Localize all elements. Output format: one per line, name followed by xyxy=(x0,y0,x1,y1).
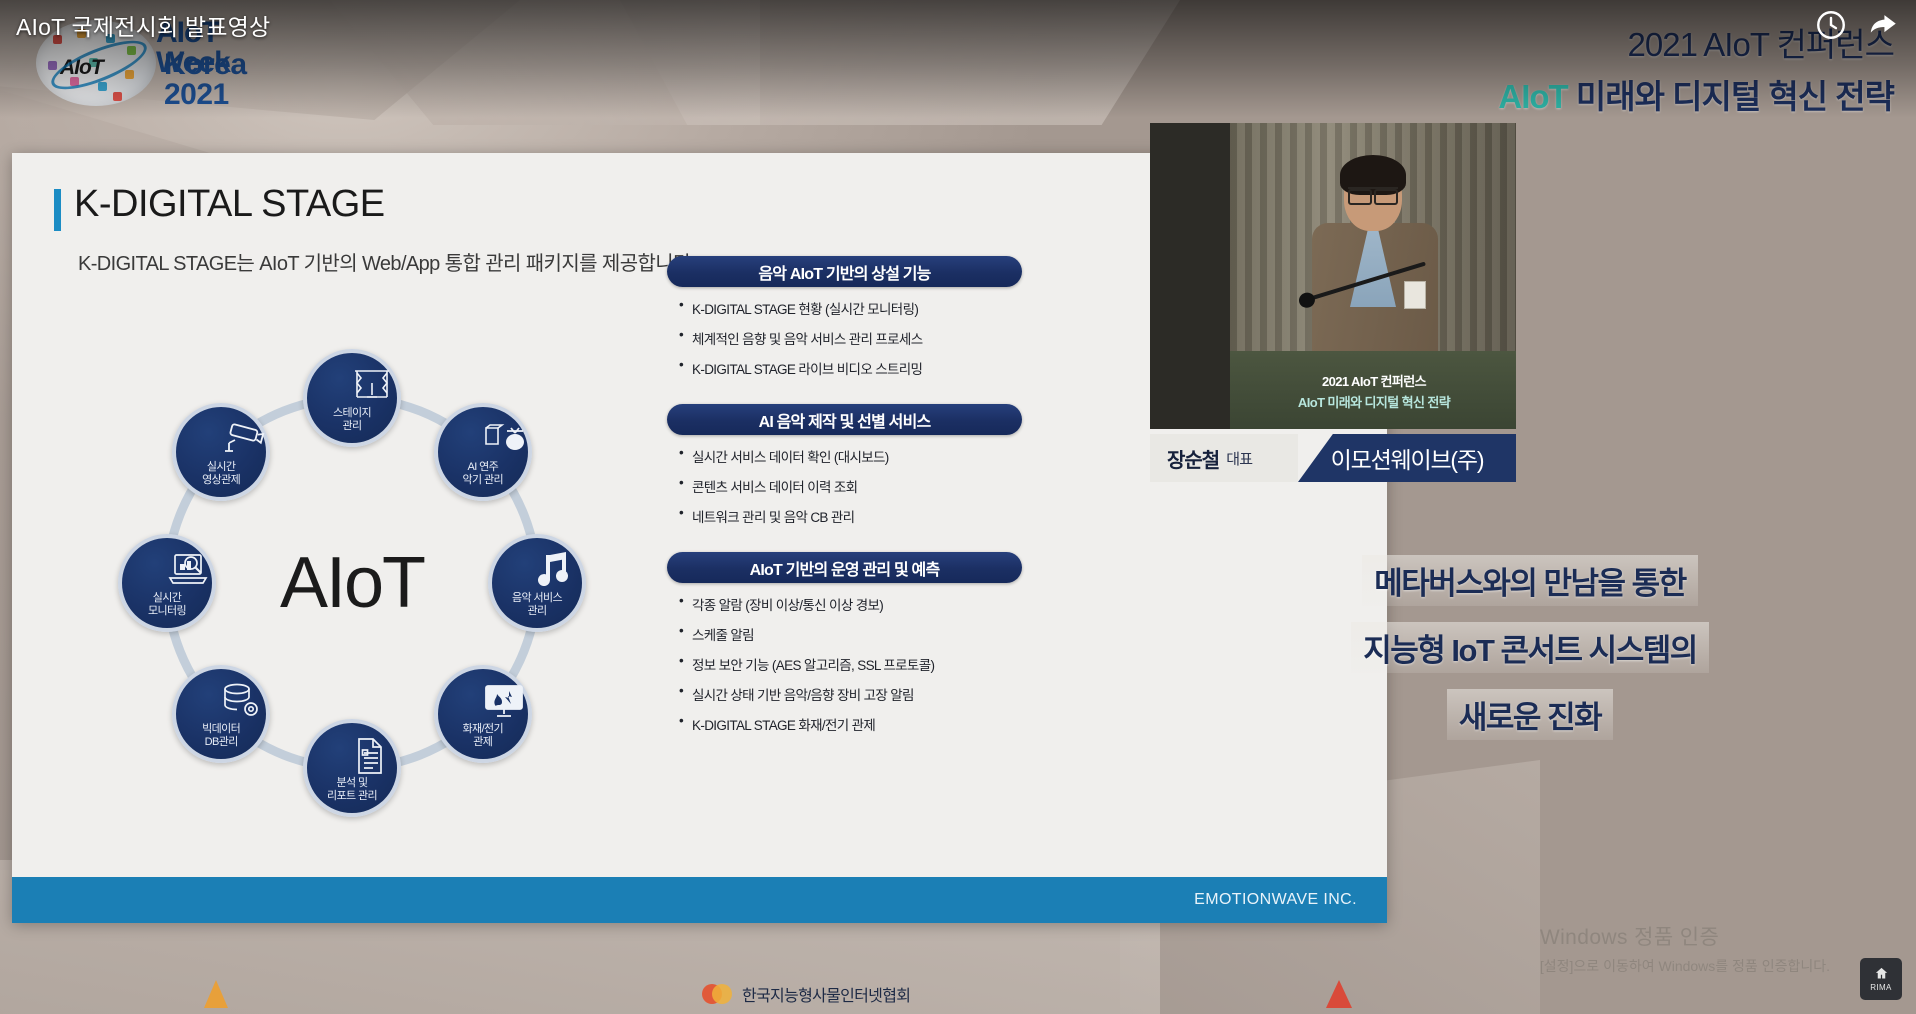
diagram-node-label: 음악 서비스 관리 xyxy=(512,592,562,618)
logo-aiot-word: AIoT xyxy=(60,56,103,80)
list-item: 스케줄 알림 xyxy=(679,624,1022,644)
list-item: 네트워크 관리 및 음악 CB 관리 xyxy=(679,506,1022,526)
diagram-node: 음악 서비스 관리 xyxy=(488,534,586,632)
section-heading: AI 음악 제작 및 선별 서비스 xyxy=(667,404,1022,435)
cam-wall xyxy=(1150,123,1230,429)
sponsor-logo xyxy=(1320,978,1358,1010)
conference-subtitle-en: AIoT xyxy=(1498,78,1567,115)
feature-sections: 음악 AIoT 기반의 상설 기능 K-DIGITAL STAGE 현황 (실시… xyxy=(667,256,1022,760)
slide-title: K-DIGITAL STAGE xyxy=(74,183,385,226)
sponsor-strip: 한국지능형사물인터넷협회 xyxy=(0,974,1916,1014)
share-icon[interactable] xyxy=(1866,8,1900,42)
windows-activation-watermark: Windows 정품 인증 [설정]으로 이동하여 Windows를 정품 인증… xyxy=(1540,921,1830,976)
sponsor-mark-icon xyxy=(1320,978,1358,1010)
watermark-subtitle: [설정]으로 이동하여 Windows를 정품 인증합니다. xyxy=(1540,956,1830,976)
speaker-company: 이모션웨이브(주) xyxy=(1331,441,1484,475)
list-item: 실시간 서비스 데이터 확인 (대시보드) xyxy=(679,446,1022,466)
slide-subtitle: K-DIGITAL STAGE는 AIoT 기반의 Web/App 통합 관리 … xyxy=(78,247,696,276)
feature-section: AI 음악 제작 및 선별 서비스 실시간 서비스 데이터 확인 (대시보드) … xyxy=(667,404,1022,526)
clock-icon[interactable] xyxy=(1814,8,1848,42)
list-item: 각종 알람 (장비 이상/통신 이상 경보) xyxy=(679,594,1022,614)
speaker-video: 2021 AIoT 컨퍼런스 AIoT 미래와 디지털 혁신 전략 xyxy=(1150,123,1516,429)
list-item: 체계적인 음향 및 음악 서비스 관리 프로세스 xyxy=(679,328,1022,348)
sponsor-mark-icon xyxy=(200,978,240,1010)
caption-line: 메타버스와의 만남을 통한 xyxy=(1362,555,1697,606)
sponsor-name: 한국지능형사물인터넷협회 xyxy=(742,982,910,1006)
list-item: 실시간 상태 기반 음악/음향 장비 고장 알림 xyxy=(679,684,1022,704)
speaker-name-band: 장순철 대표 이모션웨이브(주) xyxy=(1150,434,1516,482)
feature-section: 음악 AIoT 기반의 상설 기능 K-DIGITAL STAGE 현황 (실시… xyxy=(667,256,1022,378)
section-items: 실시간 서비스 데이터 확인 (대시보드) 콘텐츠 서비스 데이터 이력 조회 … xyxy=(679,446,1022,526)
speaker-name: 장순철 xyxy=(1167,444,1219,473)
speaker-identity: 장순철 대표 xyxy=(1150,434,1298,482)
speaker-badge xyxy=(1404,281,1426,309)
diagram-node-label: 빅데이터 DB관리 xyxy=(202,723,240,749)
list-item: K-DIGITAL STAGE 현황 (실시간 모니터링) xyxy=(679,298,1022,318)
watermark-title: Windows 정품 인증 xyxy=(1540,921,1830,951)
list-item: 정보 보안 기능 (AES 알고리즘, SSL 프로토콜) xyxy=(679,654,1022,674)
diagram-node: 스테이지 관리 xyxy=(303,349,401,447)
section-heading: 음악 AIoT 기반의 상설 기능 xyxy=(667,256,1022,287)
conference-subtitle: AIoT 미래와 디지털 혁신 전략 xyxy=(1498,70,1894,118)
section-items: 각종 알람 (장비 이상/통신 이상 경보) 스케줄 알림 정보 보안 기능 (… xyxy=(679,594,1022,734)
speaker-role: 대표 xyxy=(1226,448,1252,469)
diagram-node: AI 연주 악기 관리 xyxy=(434,403,532,501)
podium-line-1: 2021 AIoT 컨퍼런스 xyxy=(1322,371,1426,390)
logo-line-3: 2021 xyxy=(164,78,229,112)
diagram-node-label: 실시간 모니터링 xyxy=(148,592,186,618)
sponsor-logo xyxy=(200,978,240,1010)
section-heading: AIoT 기반의 운영 관리 및 예측 xyxy=(667,552,1022,583)
diagram-node-label: 실시간 영상관제 xyxy=(202,461,240,487)
podium-line-2: AIoT 미래와 디지털 혁신 전략 xyxy=(1298,392,1450,411)
sponsor-logo: 한국지능형사물인터넷협회 xyxy=(700,979,910,1009)
diagram-node: 빅데이터 DB관리 xyxy=(172,665,270,763)
list-item: K-DIGITAL STAGE 화재/전기 관제 xyxy=(679,714,1022,734)
slide-footer-text: EMOTIONWAVE INC. xyxy=(1194,891,1357,909)
diagram-node: 실시간 영상관제 xyxy=(172,403,270,501)
diagram-node: 화재/전기 관제 xyxy=(434,665,532,763)
caption-line: 새로운 진화 xyxy=(1447,689,1613,740)
slide-footer: EMOTIONWAVE INC. xyxy=(12,877,1387,923)
player-actions xyxy=(1814,8,1900,42)
sponsor-mark-icon xyxy=(700,979,734,1009)
speaker-company-chip: 이모션웨이브(주) xyxy=(1298,434,1516,482)
diagram-node: 분석 및 리포트 관리 xyxy=(303,719,401,817)
session-caption: 메타버스와의 만남을 통한 지능형 IoT 콘서트 시스템의 새로운 진화 xyxy=(1150,555,1910,756)
list-item: K-DIGITAL STAGE 라이브 비디오 스트리밍 xyxy=(679,358,1022,378)
feature-section: AIoT 기반의 운영 관리 및 예측 각종 알람 (장비 이상/통신 이상 경… xyxy=(667,552,1022,734)
diagram-node-label: AI 연주 악기 관리 xyxy=(463,461,504,487)
logo-line-2: Korea xyxy=(164,48,247,82)
title-accent-bar xyxy=(54,189,61,231)
conference-subtitle-ko: 미래와 디지털 혁신 전략 xyxy=(1576,78,1894,115)
glasses-icon xyxy=(1348,187,1398,199)
diagram-node-label: 화재/전기 관제 xyxy=(463,723,504,749)
diagram-node: 실시간 모니터링 xyxy=(118,534,216,632)
diagram-center-label: AIoT xyxy=(280,542,424,624)
aiot-circle-diagram: AIoT 스테이지 관리AI 연주 악기 관리음악 서비스 관리화재/전기 관제… xyxy=(142,303,562,863)
bg-facet xyxy=(620,0,1180,125)
podium-banner: 2021 AIoT 컨퍼런스 AIoT 미래와 디지털 혁신 전략 xyxy=(1242,363,1506,419)
diagram-node-label: 스테이지 관리 xyxy=(333,407,371,433)
video-title: AIoT 국제전시회 발표영상 xyxy=(16,8,270,42)
list-item: 콘텐츠 서비스 데이터 이력 조회 xyxy=(679,476,1022,496)
section-items: K-DIGITAL STAGE 현황 (실시간 모니터링) 체계적인 음향 및 … xyxy=(679,298,1022,378)
diagram-node-label: 분석 및 리포트 관리 xyxy=(327,777,377,803)
caption-line: 지능형 IoT 콘서트 시스템의 xyxy=(1351,622,1709,673)
speaker-figure xyxy=(1300,161,1450,361)
